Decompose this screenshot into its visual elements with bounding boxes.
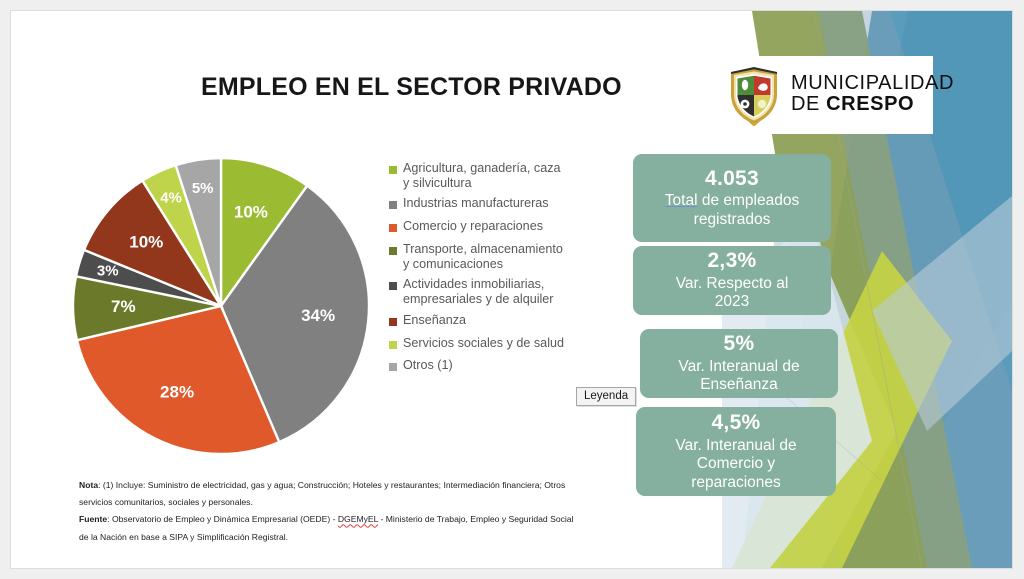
legend-item[interactable]: Otros (1) xyxy=(389,358,599,373)
slide-canvas: EMPLEO EN EL SECTOR PRIVADO MUNICIPALIDA… xyxy=(11,11,1012,568)
legend-swatch-icon xyxy=(389,247,397,255)
legend-item-label: Otros (1) xyxy=(403,358,453,373)
stat-card-label-line2: Comercio y xyxy=(697,455,775,472)
pie-slice-label: 34% xyxy=(301,306,335,325)
legend-swatch-icon xyxy=(389,318,397,326)
stat-card-var-ensenanza[interactable]: 5% Var. Interanual deEnseñanza xyxy=(640,329,838,398)
stat-card-value: 5% xyxy=(650,332,828,357)
chart-legend[interactable]: Agricultura, ganadería, cazay silvicultu… xyxy=(389,161,599,379)
pie-slice-label: 7% xyxy=(111,297,136,316)
page-title: EMPLEO EN EL SECTOR PRIVADO xyxy=(201,73,622,102)
legend-swatch-icon xyxy=(389,201,397,209)
logo-line-2: DE CRESPO xyxy=(791,94,954,115)
legend-item-label: Enseñanza xyxy=(403,313,466,328)
legend-item[interactable]: Industrias manufactureras xyxy=(389,196,599,211)
municipality-logo: MUNICIPALIDAD DE CRESPO xyxy=(711,56,933,134)
stat-card-label-line1: Var. Respecto al xyxy=(676,275,789,292)
legend-item-label: Comercio y reparaciones xyxy=(403,219,543,234)
stat-card-label-line2: registrados xyxy=(694,211,771,228)
legend-item-label: Industrias manufactureras xyxy=(403,196,549,211)
logo-wordmark: MUNICIPALIDAD DE CRESPO xyxy=(791,73,954,115)
pie-slice-label: 4% xyxy=(160,190,182,207)
legend-tooltip: Leyenda xyxy=(576,387,636,406)
legend-item[interactable]: Comercio y reparaciones xyxy=(389,219,599,234)
stat-card-var-2023[interactable]: 2,3% Var. Respecto al2023 xyxy=(633,246,831,315)
legend-item[interactable]: Servicios sociales y de salud xyxy=(389,336,599,351)
stat-card-label-line3: reparaciones xyxy=(691,474,781,491)
note-label: Nota: (1) Incluye: Suministro de electri… xyxy=(79,480,565,507)
legend-swatch-icon xyxy=(389,166,397,174)
stat-card-label-link[interactable]: Total xyxy=(665,192,698,209)
legend-item-label: Servicios sociales y de salud xyxy=(403,336,564,351)
legend-swatch-icon xyxy=(389,224,397,232)
pie-slice-label: 3% xyxy=(97,262,119,279)
logo-line2-bold: CRESPO xyxy=(826,93,914,115)
pie-slice-label: 5% xyxy=(192,180,214,197)
legend-swatch-icon xyxy=(389,341,397,349)
legend-swatch-icon xyxy=(389,282,397,290)
stat-card-var-comercio[interactable]: 4,5% Var. Interanual deComercio yreparac… xyxy=(636,407,836,496)
pie-chart[interactable]: 10%34%28%7%3%10%4%5% xyxy=(66,151,376,461)
stat-card-label: Total de empleadosregistrados xyxy=(643,192,821,229)
stat-card-value: 4.053 xyxy=(643,167,821,192)
spellcheck-word: DGEMyEL xyxy=(338,514,378,524)
stat-card-label-rest: de empleados xyxy=(698,192,800,209)
stat-card-label: Var. Interanual deEnseñanza xyxy=(650,358,828,395)
stat-card-value: 2,3% xyxy=(643,249,821,274)
stat-card-label: Var. Interanual deComercio yreparaciones xyxy=(646,437,826,493)
pie-slice-label: 10% xyxy=(234,202,268,221)
legend-item[interactable]: Transporte, almacenamientoy comunicacion… xyxy=(389,242,599,271)
pie-slice-label: 28% xyxy=(160,383,194,402)
legend-item-label: Actividades inmobiliarias,empresariales … xyxy=(403,277,554,306)
legend-item-label: Agricultura, ganadería, cazay silvicultu… xyxy=(403,161,561,190)
stat-card-total-empleados[interactable]: 4.053 Total de empleadosregistrados xyxy=(633,154,831,242)
legend-item[interactable]: Enseñanza xyxy=(389,313,599,328)
logo-line-1: MUNICIPALIDAD xyxy=(791,73,954,94)
stat-card-label-line1: Var. Interanual de xyxy=(678,358,799,375)
stat-card-value: 4,5% xyxy=(646,411,826,436)
pie-slice-label: 10% xyxy=(129,233,163,252)
source-label: Fuente: Observatorio de Empleo y Dinámic… xyxy=(79,514,574,541)
legend-item[interactable]: Agricultura, ganadería, cazay silvicultu… xyxy=(389,161,599,190)
crespo-coat-of-arms-icon xyxy=(725,64,783,126)
footnote-block: Nota: (1) Incluye: Suministro de electri… xyxy=(79,477,579,546)
stat-card-label-line1: Var. Interanual de xyxy=(675,437,796,454)
stat-card-label-line2: Enseñanza xyxy=(700,376,778,393)
legend-swatch-icon xyxy=(389,363,397,371)
logo-line2-prefix: DE xyxy=(791,93,826,115)
legend-item[interactable]: Actividades inmobiliarias,empresariales … xyxy=(389,277,599,306)
legend-item-label: Transporte, almacenamientoy comunicacion… xyxy=(403,242,563,271)
stat-card-label-line2: 2023 xyxy=(715,293,749,310)
stat-card-label: Var. Respecto al2023 xyxy=(643,275,821,312)
pie-chart-svg[interactable]: 10%34%28%7%3%10%4%5% xyxy=(66,151,376,461)
